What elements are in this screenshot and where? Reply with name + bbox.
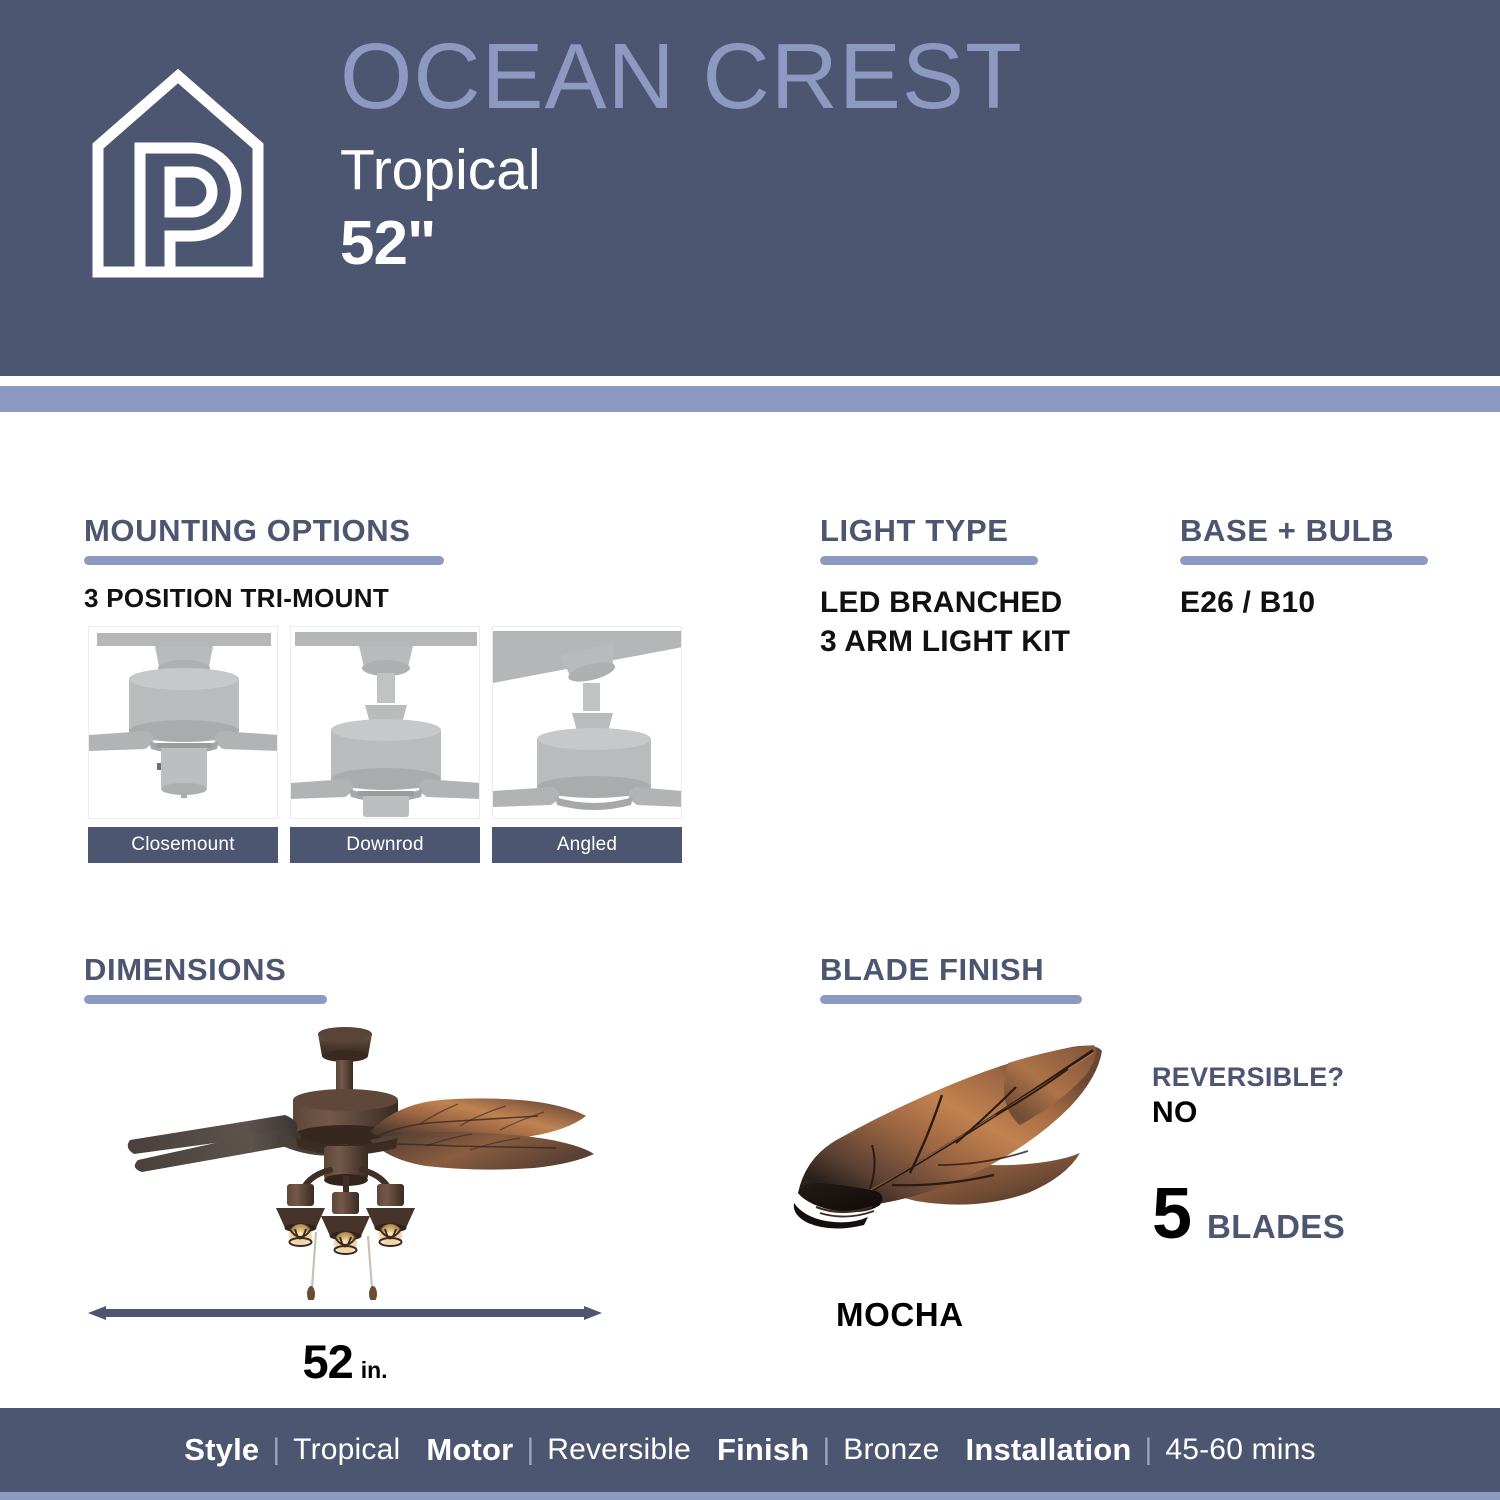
- brand-size: 52": [340, 211, 1240, 276]
- section-title-text: LIGHT TYPE: [820, 513, 1038, 549]
- header-accent-stripe: [0, 386, 1500, 412]
- section-heading-mounting: MOUNTING OPTIONS: [84, 513, 444, 565]
- dimension-width: 52in.: [88, 1334, 602, 1389]
- section-heading-blade-finish: BLADE FINISH: [820, 952, 1082, 1004]
- footer-key-installation: Installation: [966, 1432, 1132, 1468]
- section-title-text: BASE + BULB: [1180, 513, 1428, 549]
- footer-key-style: Style: [184, 1432, 259, 1468]
- section-heading-light-type: LIGHT TYPE: [820, 513, 1038, 565]
- footer-value-motor: Reversible: [547, 1433, 691, 1467]
- section-heading-dimensions: DIMENSIONS: [84, 952, 327, 1004]
- angled-diagram: [492, 626, 682, 819]
- footer-value-installation: 45-60 mins: [1165, 1433, 1315, 1467]
- downrod-diagram: [290, 626, 480, 819]
- leaf-blade-swatch: [780, 1025, 1140, 1275]
- dimension-number: 52: [302, 1335, 352, 1388]
- house-p-logo: [88, 68, 268, 280]
- mount-option-label: Downrod: [290, 827, 480, 863]
- brand-style-name: Tropical: [340, 139, 1240, 203]
- section-underline: [820, 995, 1082, 1004]
- mount-option-label: Closemount: [88, 827, 278, 863]
- blade-count-block: 5 BLADES: [1152, 1178, 1345, 1250]
- dimension-arrow: [88, 1300, 602, 1326]
- section-title-text: BLADE FINISH: [820, 952, 1082, 988]
- section-underline: [84, 995, 327, 1004]
- section-heading-base-bulb: BASE + BULB: [1180, 513, 1428, 565]
- section-underline: [1180, 556, 1428, 565]
- section-title-text: DIMENSIONS: [84, 952, 327, 988]
- footer-value-finish: Bronze: [843, 1433, 939, 1467]
- blade-count-label: BLADES: [1207, 1208, 1345, 1246]
- blade-count-number: 5: [1152, 1178, 1191, 1250]
- mounting-subheading: 3 POSITION TRI-MOUNT: [84, 583, 389, 614]
- section-title-text: MOUNTING OPTIONS: [84, 513, 444, 549]
- footer-divider: |: [822, 1433, 830, 1467]
- reversible-label: REVERSIBLE?: [1152, 1062, 1344, 1093]
- footer-key-motor: Motor: [426, 1432, 513, 1468]
- footer-key-finish: Finish: [717, 1432, 809, 1468]
- brand-title: OCEAN CREST: [340, 30, 1240, 123]
- light-type-value: LED BRANCHED 3 ARM LIGHT KIT: [820, 583, 1160, 661]
- header-text-block: OCEAN CREST Tropical 52": [340, 30, 1240, 276]
- mount-option-label: Angled: [492, 827, 682, 863]
- mount-option-angled[interactable]: Angled: [492, 626, 682, 863]
- mount-option-downrod[interactable]: Downrod: [290, 626, 480, 863]
- footer-bar: Style | Tropical Motor | Reversible Fini…: [0, 1408, 1500, 1492]
- footer-accent-stripe: [0, 1492, 1500, 1500]
- closemount-diagram: [88, 626, 278, 819]
- reversible-value: NO: [1152, 1096, 1198, 1130]
- ceiling-fan-product-image: [120, 1020, 620, 1300]
- footer-divider: |: [272, 1433, 280, 1467]
- footer-value-style: Tropical: [293, 1433, 400, 1467]
- base-bulb-value: E26 / B10: [1180, 583, 1440, 622]
- footer-divider: |: [1145, 1433, 1153, 1467]
- footer-divider: |: [526, 1433, 534, 1467]
- footer-spec-list: Style | Tropical Motor | Reversible Fini…: [184, 1432, 1316, 1468]
- section-underline: [84, 556, 444, 565]
- section-underline: [820, 556, 1038, 565]
- mount-option-closemount[interactable]: Closemount: [88, 626, 278, 863]
- dimension-unit: in.: [361, 1357, 388, 1383]
- blade-finish-name: MOCHA: [836, 1296, 964, 1334]
